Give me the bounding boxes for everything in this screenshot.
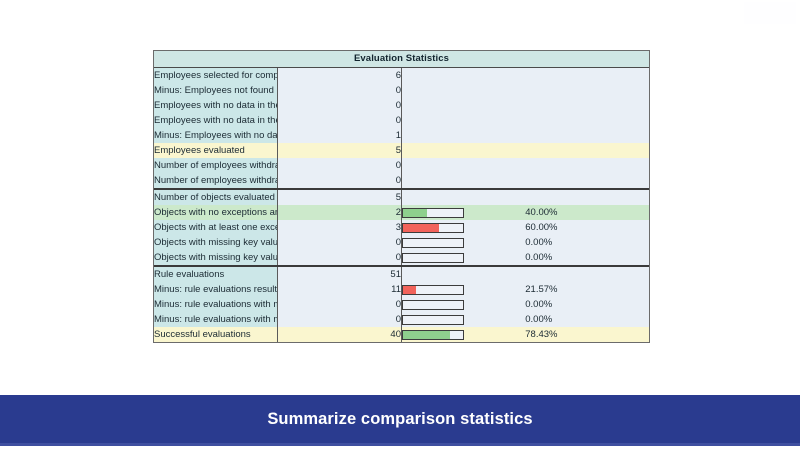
row-percent [525,68,649,84]
progress-bar-fill [403,286,416,294]
table-header: Evaluation Statistics [154,51,649,68]
row-bar-cell [402,205,526,220]
row-bar-cell [402,327,526,342]
row-label: Objects with at least one exception [154,220,278,235]
row-value: 5 [278,189,402,205]
row-label: Objects with missing key values in the T… [154,235,278,250]
row-label: Minus: Employees with no data in the Tes… [154,128,278,143]
row-percent [525,173,649,189]
summary-banner: Summarize comparison statistics [0,395,800,443]
row-label: Minus: rule evaluations with missing key… [154,297,278,312]
statistics-grid: Evaluation Statistics Employees selected… [154,51,649,342]
row-value: 0 [278,173,402,189]
row-bar-cell [402,235,526,250]
evaluation-statistics-table: Evaluation Statistics Employees selected… [153,50,650,343]
row-label: Employees with no data in the Control Pe… [154,113,278,128]
row-percent [525,98,649,113]
table-header-row: Evaluation Statistics [154,51,649,68]
row-value: 0 [278,158,402,173]
row-value: 0 [278,312,402,327]
row-percent [525,189,649,205]
table-title: Evaluation Statistics [154,51,649,68]
row-value: 5 [278,143,402,158]
row-percent: 21.57% [525,282,649,297]
table-row: Objects with no exceptions and no missin… [154,205,649,220]
row-percent: 40.00% [525,205,649,220]
row-value: 11 [278,282,402,297]
row-label: Employees with no data in the Test Perio… [154,98,278,113]
progress-bar-fill [403,209,427,217]
row-value: 51 [278,266,402,282]
row-label: Number of objects evaluated [154,189,278,205]
progress-bar-fill [403,224,439,232]
row-bar-cell [402,128,526,143]
row-value: 6 [278,68,402,84]
table-row: Employees evaluated5 [154,143,649,158]
row-label: Objects with no exceptions and no missin… [154,205,278,220]
row-label: Minus: rule evaluations resulting in exc… [154,282,278,297]
table-row: Minus: rule evaluations resulting in exc… [154,282,649,297]
table-body: Employees selected for comparison6Minus:… [154,68,649,343]
row-label: Minus: rule evaluations with missing key… [154,312,278,327]
row-bar-cell [402,250,526,266]
row-percent: 0.00% [525,297,649,312]
row-percent [525,83,649,98]
row-bar-cell [402,83,526,98]
table-row: Objects with at least one exception360.0… [154,220,649,235]
row-label: Employees selected for comparison [154,68,278,84]
row-bar-cell [402,189,526,205]
progress-bar [402,285,464,295]
table-row: Minus: Employees with no data in the Tes… [154,128,649,143]
row-label: Minus: Employees not found in the Contro… [154,83,278,98]
progress-bar-fill [403,331,450,339]
row-percent: 0.00% [525,250,649,266]
row-label: Number of employees withdrawn during Con… [154,173,278,189]
row-percent [525,113,649,128]
row-bar-cell [402,282,526,297]
progress-bar [402,223,464,233]
row-bar-cell [402,98,526,113]
row-label: Objects with missing key values in the C… [154,250,278,266]
row-percent: 0.00% [525,312,649,327]
row-label: Successful evaluations [154,327,278,342]
row-value: 3 [278,220,402,235]
row-label: Rule evaluations [154,266,278,282]
row-bar-cell [402,113,526,128]
progress-bar [402,208,464,218]
row-label: Number of employees withdrawn during Tes… [154,158,278,173]
row-percent: 0.00% [525,235,649,250]
row-value: 0 [278,235,402,250]
table-row: Objects with missing key values in the C… [154,250,649,266]
row-value: 2 [278,205,402,220]
row-value: 0 [278,98,402,113]
row-value: 0 [278,297,402,312]
progress-bar [402,238,464,248]
row-value: 40 [278,327,402,342]
banner-bottom-strip [0,443,800,446]
row-value: 0 [278,250,402,266]
progress-bar [402,330,464,340]
progress-bar [402,300,464,310]
row-value: 0 [278,113,402,128]
row-percent: 78.43% [525,327,649,342]
row-label: Employees evaluated [154,143,278,158]
banner-title: Summarize comparison statistics [267,410,532,429]
row-percent [525,143,649,158]
table-row: Employees with no data in the Control Pe… [154,113,649,128]
row-bar-cell [402,158,526,173]
row-percent [525,266,649,282]
row-bar-cell [402,266,526,282]
table-row: Number of objects evaluated5 [154,189,649,205]
row-bar-cell [402,173,526,189]
table-row: Employees with no data in the Test Perio… [154,98,649,113]
row-bar-cell [402,143,526,158]
table-row: Successful evaluations4078.43% [154,327,649,342]
row-percent: 60.00% [525,220,649,235]
row-bar-cell [402,68,526,84]
row-percent [525,158,649,173]
row-value: 1 [278,128,402,143]
table-row: Minus: rule evaluations with missing key… [154,297,649,312]
row-bar-cell [402,220,526,235]
table-row: Minus: rule evaluations with missing key… [154,312,649,327]
progress-bar [402,315,464,325]
table-row: Number of employees withdrawn during Tes… [154,158,649,173]
progress-bar [402,253,464,263]
row-value: 0 [278,83,402,98]
row-percent [525,128,649,143]
table-row: Objects with missing key values in the T… [154,235,649,250]
table-row: Number of employees withdrawn during Con… [154,173,649,189]
table-row: Minus: Employees not found in the Contro… [154,83,649,98]
row-bar-cell [402,312,526,327]
table-row: Rule evaluations51 [154,266,649,282]
row-bar-cell [402,297,526,312]
table-row: Employees selected for comparison6 [154,68,649,84]
watermark-logo [744,2,796,24]
